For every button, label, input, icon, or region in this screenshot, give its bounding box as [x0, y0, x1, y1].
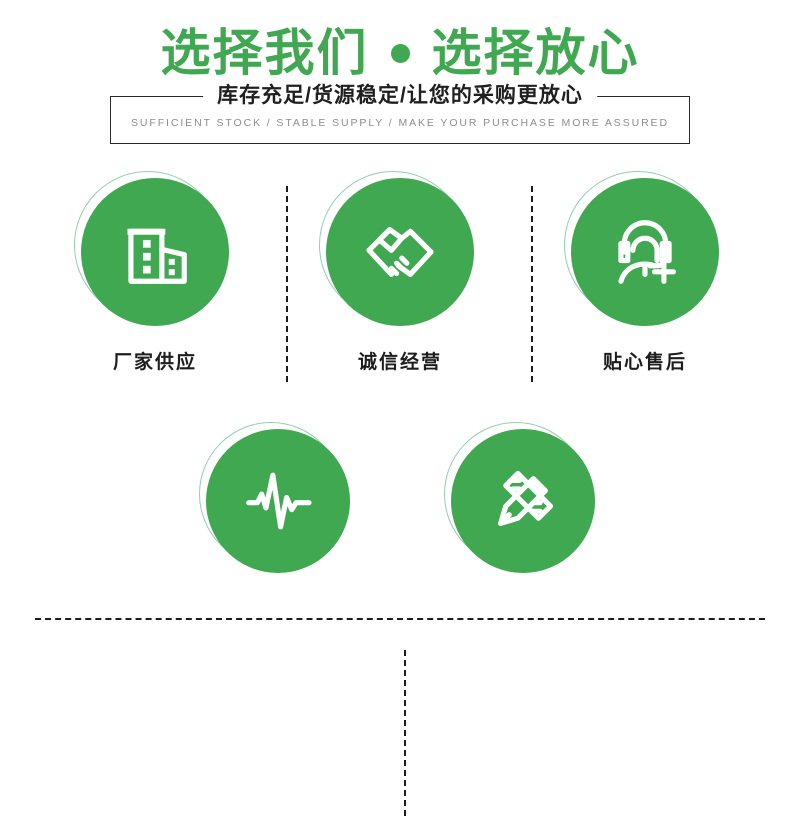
page-header: 选择我们 选择放心 库存充足/货源稳定/让您的采购更放心 SUFFICIENT …	[0, 0, 800, 144]
badge-disc	[81, 178, 229, 326]
factory-building-icon	[112, 209, 198, 295]
feature-section: 厂家供应 诚信经营	[0, 178, 800, 594]
feature-item-quality-monitoring[interactable]	[155, 429, 400, 594]
feature-label: 厂家供应	[113, 347, 197, 374]
subtitle-chinese: 库存充足/货源稳定/让您的采购更放心	[203, 83, 597, 109]
feature-badge	[571, 178, 719, 326]
vertical-divider-3	[404, 650, 406, 816]
subtitle-english: SUFFICIENT STOCK / STABLE SUPPLY / MAKE …	[110, 117, 690, 129]
page-title: 选择我们 选择放心	[0, 26, 800, 80]
badge-disc	[326, 178, 474, 326]
feature-item-factory-supply[interactable]: 厂家供应	[33, 178, 278, 374]
handshake-icon	[357, 209, 443, 295]
feature-row-bottom	[0, 429, 800, 594]
badge-disc	[451, 429, 595, 573]
pen-ruler-icon	[480, 458, 566, 544]
feature-badge	[326, 178, 474, 326]
bullet-dot-icon	[391, 44, 410, 63]
headset-support-icon	[602, 209, 688, 295]
feature-row-top: 厂家供应 诚信经营	[0, 178, 800, 374]
feature-label: 贴心售后	[603, 347, 687, 374]
page-title-right: 选择放心	[432, 26, 640, 80]
feature-badge	[206, 429, 350, 573]
subtitle-frame: 库存充足/货源稳定/让您的采购更放心 SUFFICIENT STOCK / ST…	[110, 96, 690, 144]
feature-label: 诚信经营	[358, 347, 442, 374]
horizontal-divider	[35, 618, 765, 620]
feature-item-after-sales[interactable]: 贴心售后	[523, 178, 768, 374]
badge-disc	[206, 429, 350, 573]
page-title-left: 选择我们	[161, 26, 369, 80]
feature-badge	[81, 178, 229, 326]
feature-badge	[451, 429, 595, 573]
badge-disc	[571, 178, 719, 326]
feature-item-customization[interactable]	[400, 429, 645, 594]
feature-item-integrity[interactable]: 诚信经营	[278, 178, 523, 374]
heartbeat-pulse-icon	[235, 458, 321, 544]
